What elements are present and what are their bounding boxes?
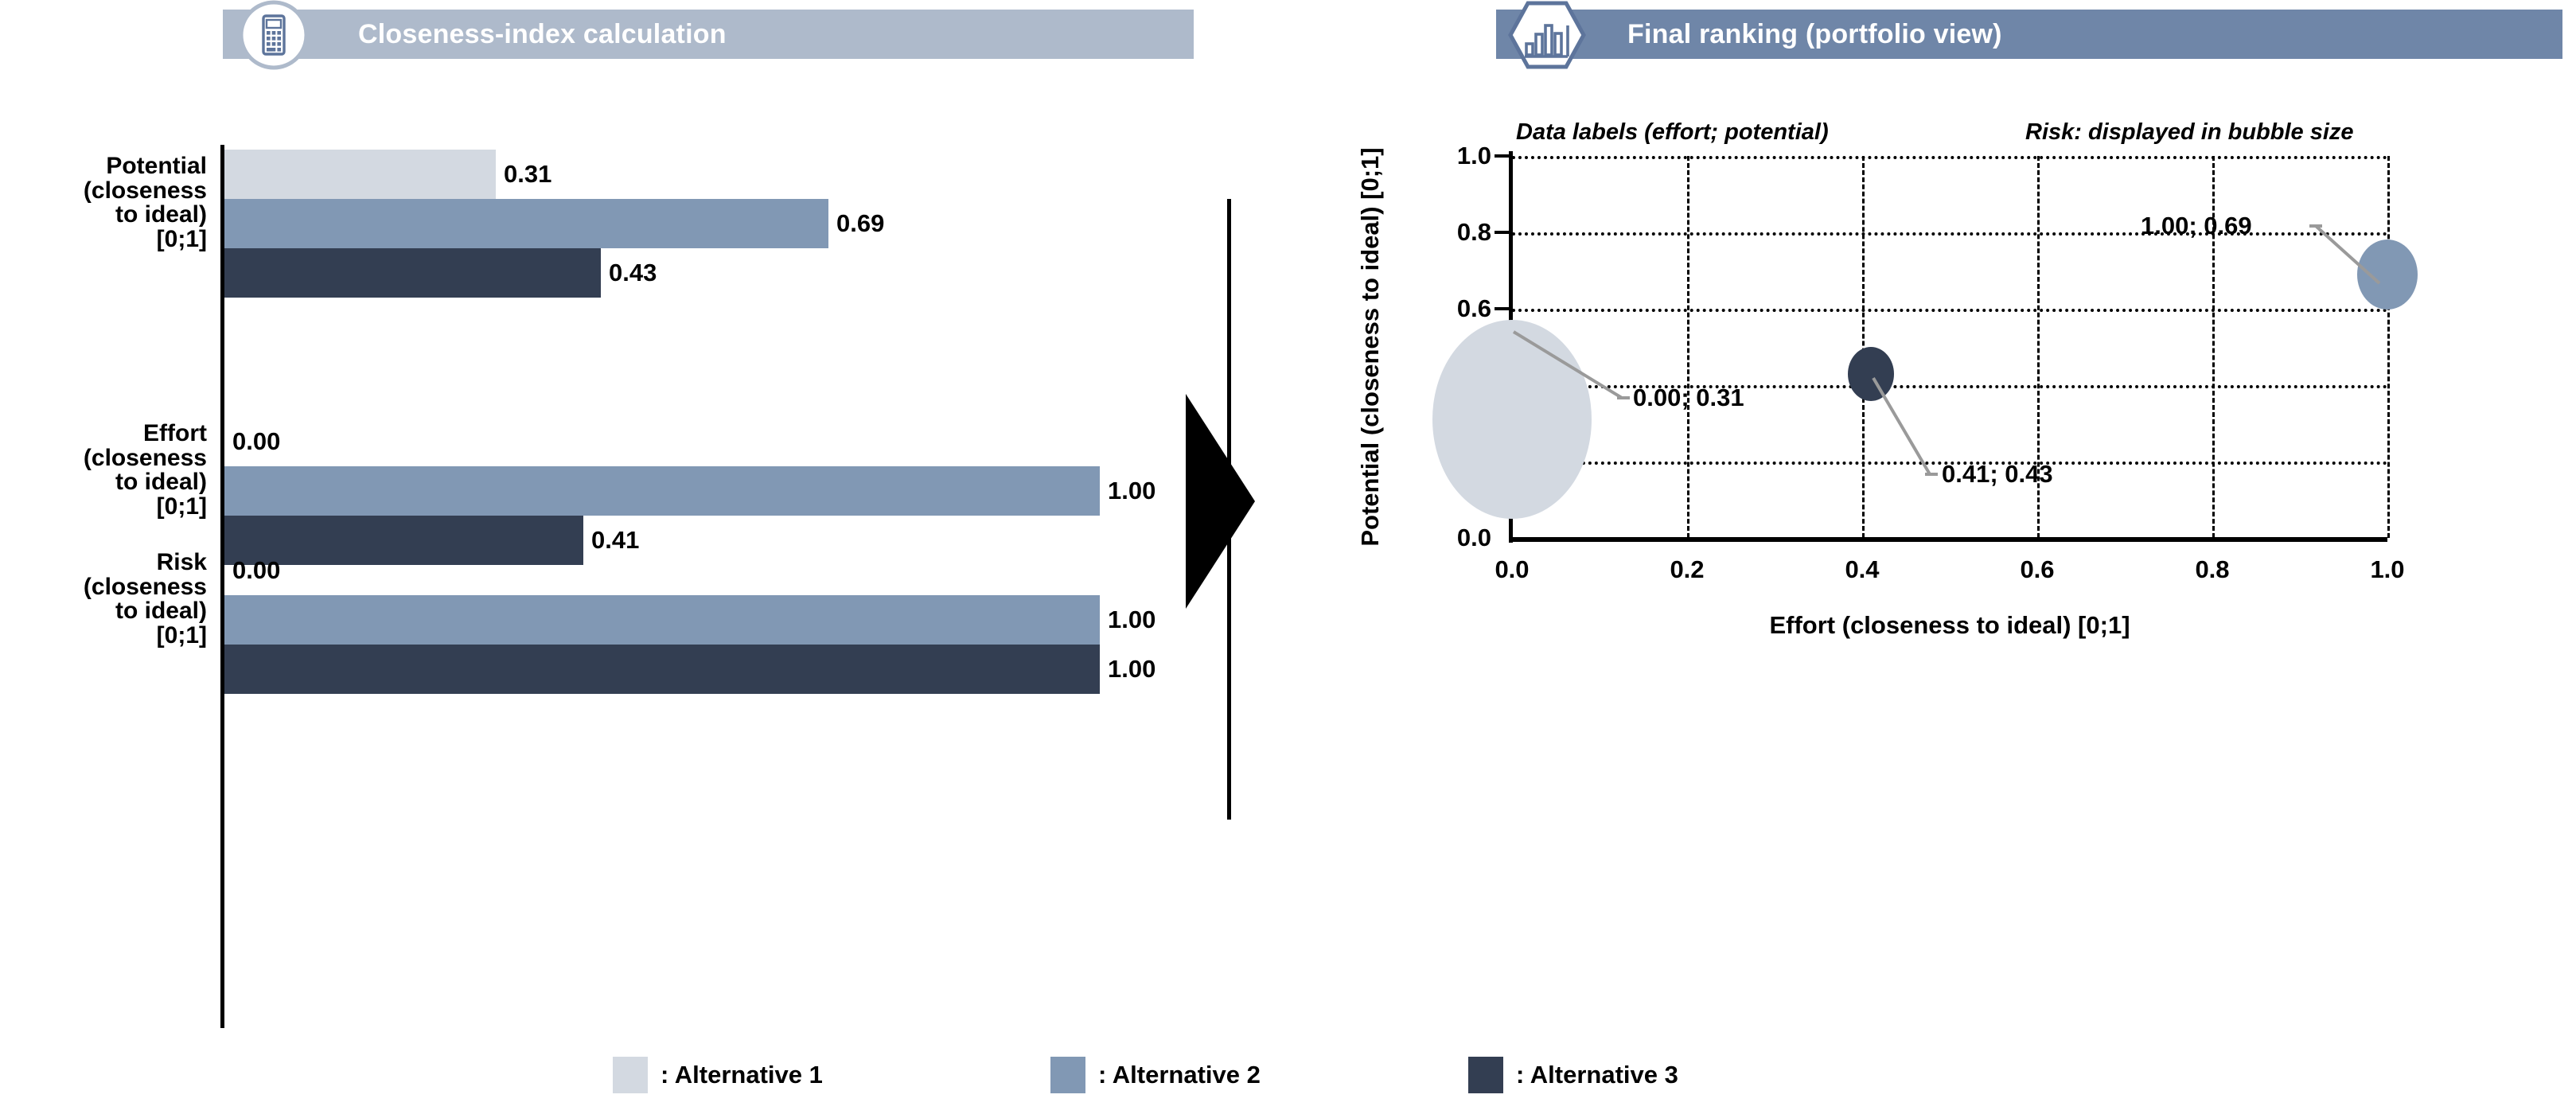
plot-area: 1.0 0.8 0.6 0.4 0.2 0.0 0.0 0.2 0.4 0.6 …: [1512, 156, 2387, 538]
annotation-data-labels: Data labels (effort; potential): [1516, 119, 1829, 146]
x-axis-title: Effort (closeness to ideal) [0;1]: [1512, 611, 2387, 640]
bar-value: 0.31: [496, 160, 551, 189]
y-tick-mark: [1495, 231, 1510, 234]
bar-row: 1.00: [224, 595, 1100, 645]
x-tick-label: 0.4: [1845, 555, 1879, 584]
y-tick-label: 0.6: [1457, 294, 1491, 323]
x-tick-label: 0.2: [1670, 555, 1704, 584]
y-axis-title: Potential (closeness to ideal) [0;1]: [1356, 100, 1385, 594]
portfolio-bubble-chart: Data labels (effort; potential) Risk: di…: [1353, 88, 2576, 1114]
bar-value: 1.00: [1100, 655, 1155, 684]
legend-swatch-alternative-3: [1468, 1057, 1503, 1093]
x-tick-label: 0.0: [1495, 555, 1529, 584]
gridline-h: [1512, 156, 2387, 159]
bar-risk-alt2: [224, 595, 1100, 645]
bar-value: 0.00: [224, 427, 280, 456]
data-label-alternative-1: 0.00; 0.31: [1633, 384, 1744, 412]
bar-row: 0.00: [224, 417, 1100, 466]
bar-row: 0.31: [224, 150, 1100, 199]
legend-item-alternative-3[interactable]: : Alternative 3: [1468, 1057, 1678, 1093]
gridline-h: [1512, 232, 2387, 236]
bar-value: 0.00: [224, 556, 280, 585]
bubble-alternative-2[interactable]: [2357, 240, 2418, 310]
bar-value: 1.00: [1100, 477, 1155, 505]
bar-row: 0.69: [224, 199, 1100, 248]
panel-header-left: Closeness-index calculation: [223, 10, 1194, 59]
gridline-h: [1512, 309, 2387, 312]
data-label-alternative-2: 1.00; 0.69: [2141, 212, 2252, 240]
calculator-icon: [237, 0, 310, 72]
y-tick-label: 0.0: [1457, 524, 1491, 552]
x-tick-label: 0.8: [2195, 555, 2229, 584]
x-tick-label: 0.6: [2020, 555, 2054, 584]
bar-value: 1.00: [1100, 606, 1155, 634]
bubble-alternative-1[interactable]: [1432, 320, 1592, 519]
legend-label-alternative-2: : Alternative 2: [1098, 1061, 1261, 1089]
panel-title-left: Closeness-index calculation: [358, 19, 727, 50]
legend-label-alternative-3: : Alternative 3: [1516, 1061, 1678, 1089]
closeness-index-bar-chart: Potential (closeness to ideal) [0;1] 0.3…: [0, 88, 1194, 963]
category-label-effort: Effort (closeness to ideal) [0;1]: [0, 422, 207, 519]
legend-item-alternative-2[interactable]: : Alternative 2: [1050, 1057, 1261, 1093]
bar-potential-alt2: [224, 199, 828, 248]
y-tick-label: 1.0: [1457, 142, 1491, 170]
bar-row: 1.00: [224, 466, 1100, 516]
arrow-head-icon: [1186, 394, 1255, 609]
panel-header-right: Final ranking (portfolio view): [1496, 10, 2562, 59]
x-axis-line: [1509, 537, 2387, 542]
bar-value: 0.69: [828, 209, 884, 238]
bar-row: 0.43: [224, 248, 1100, 298]
panel-title-right: Final ranking (portfolio view): [1627, 19, 2002, 50]
gridline-v: [1687, 156, 1689, 538]
bar-row: 1.00: [224, 645, 1100, 694]
y-tick-mark: [1495, 307, 1510, 310]
legend-label-alternative-1: : Alternative 1: [661, 1061, 823, 1089]
bar-risk-alt3: [224, 645, 1100, 694]
gridline-v: [2387, 156, 2390, 538]
legend-swatch-alternative-2: [1050, 1057, 1085, 1093]
bar-row: 0.00: [224, 546, 1100, 595]
x-tick-label: 1.0: [2370, 555, 2404, 584]
bar-effort-alt2: [224, 466, 1100, 516]
bar-chart-icon: [1506, 0, 1588, 72]
annotation-risk: Risk: displayed in bubble size: [2025, 119, 2354, 146]
category-label-potential: Potential (closeness to ideal) [0;1]: [0, 154, 207, 251]
flow-arrow: [1178, 199, 1273, 820]
bar-potential-alt1: [224, 150, 496, 199]
bar-value: 0.43: [601, 259, 657, 287]
bar-potential-alt3: [224, 248, 601, 298]
data-label-alternative-3: 0.41; 0.43: [1942, 460, 2053, 489]
legend-swatch-alternative-1: [613, 1057, 648, 1093]
legend-item-alternative-1[interactable]: : Alternative 1: [613, 1057, 823, 1093]
legend: : Alternative 1 : Alternative 2 : Altern…: [0, 1050, 2576, 1106]
y-tick-label: 0.8: [1457, 218, 1491, 247]
category-label-risk: Risk (closeness to ideal) [0;1]: [0, 551, 207, 648]
bubble-alternative-3[interactable]: [1848, 347, 1894, 401]
y-tick-mark: [1495, 154, 1510, 158]
